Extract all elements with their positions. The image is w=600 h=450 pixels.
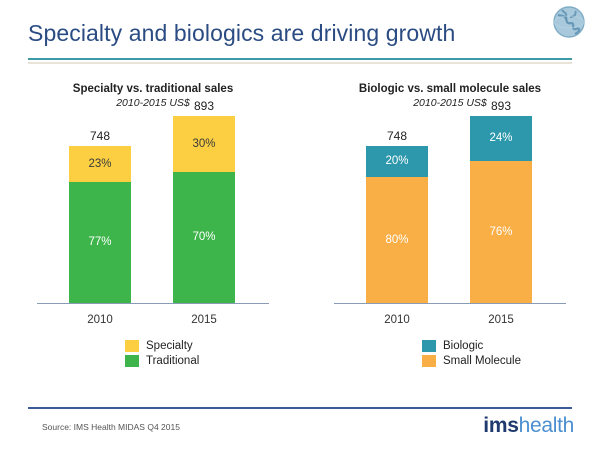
legend-item-specialty[interactable]: Specialty (125, 338, 233, 353)
chart-subtitle: 2010-2015 US$ (305, 97, 595, 110)
bar-total-label: 893 (173, 99, 235, 113)
bar-segment-small-molecule[interactable]: 80% (366, 177, 428, 303)
legend-item-traditional[interactable]: Traditional (125, 353, 233, 368)
x-axis-line (37, 303, 269, 305)
x-axis-tick-label-2015: 2015 (470, 314, 532, 326)
x-axis-line (334, 303, 566, 305)
chart-panel-specialty-vs-traditional: Specialty vs. traditional sales 2010-201… (8, 72, 298, 397)
x-axis-tick-label-2015: 2015 (173, 314, 235, 326)
globe-icon (550, 3, 588, 41)
chart-title: Specialty vs. traditional sales (8, 82, 298, 96)
bar-segment-biologic[interactable]: 20% (366, 146, 428, 177)
logo-text-ims: ims (483, 414, 518, 437)
bar-segment-small-molecule[interactable]: 76% (470, 161, 532, 303)
legend-swatch-icon (125, 340, 139, 352)
x-axis-tick-label-2010: 2010 (366, 314, 428, 326)
chart-title: Biologic vs. small molecule sales (305, 82, 595, 96)
source-note: Source: IMS Health MIDAS Q4 2015 (42, 422, 180, 432)
legend-label: Specialty (146, 340, 193, 352)
charts-area: Specialty vs. traditional sales 2010-201… (0, 72, 600, 397)
bar-stack: 30% 70% (173, 116, 235, 303)
bar-segment-specialty[interactable]: 30% (173, 116, 235, 172)
bar-stack: 24% 76% (470, 116, 532, 303)
legend-swatch-icon (422, 340, 436, 352)
legend-label: Small Molecule (443, 355, 521, 367)
title-divider-teal (28, 58, 572, 60)
legend-swatch-icon (422, 355, 436, 367)
title-divider-cream (28, 62, 572, 64)
bar-stack: 23% 77% (69, 146, 131, 303)
bar-total-label: 893 (470, 99, 532, 113)
x-axis-tick-label-2010: 2010 (69, 314, 131, 326)
legend-item-biologic[interactable]: Biologic (422, 338, 530, 353)
legend-label: Traditional (146, 355, 199, 367)
plot-area: 748 23% 77% 893 30% (37, 110, 269, 332)
legend-swatch-icon (125, 355, 139, 367)
chart-subtitle: 2010-2015 US$ (8, 97, 298, 110)
ims-health-logo: imshealth (483, 414, 574, 438)
bar-segment-label: 23% (88, 158, 111, 170)
bar-segment-label: 76% (489, 226, 512, 238)
bar-segment-traditional[interactable]: 70% (173, 172, 235, 303)
bar-segment-label: 30% (192, 138, 215, 150)
chart-legend: Biologic Small Molecule (370, 338, 530, 368)
plot-area: 748 20% 80% 893 24% 76% (334, 110, 566, 332)
bar-total-label: 748 (69, 129, 131, 143)
chart-legend: Specialty Traditional (73, 338, 233, 368)
bar-segment-label: 77% (88, 236, 111, 248)
footer-divider (28, 407, 572, 409)
logo-text-health: health (519, 414, 574, 437)
bar-segment-biologic[interactable]: 24% (470, 116, 532, 161)
bar-segment-label: 20% (385, 155, 408, 167)
bar-total-label: 748 (366, 129, 428, 143)
bar-segment-label: 24% (489, 132, 512, 144)
slide-header: Specialty and biologics are driving grow… (0, 0, 600, 70)
legend-label: Biologic (443, 340, 483, 352)
bar-stack: 20% 80% (366, 146, 428, 303)
bar-segment-specialty[interactable]: 23% (69, 146, 131, 182)
legend-item-small-molecule[interactable]: Small Molecule (422, 353, 530, 368)
bar-segment-traditional[interactable]: 77% (69, 182, 131, 303)
bar-segment-label: 80% (385, 234, 408, 246)
chart-panel-biologic-vs-small-molecule: Biologic vs. small molecule sales 2010-2… (305, 72, 595, 397)
bar-segment-label: 70% (192, 231, 215, 243)
page-title: Specialty and biologics are driving grow… (28, 20, 455, 47)
